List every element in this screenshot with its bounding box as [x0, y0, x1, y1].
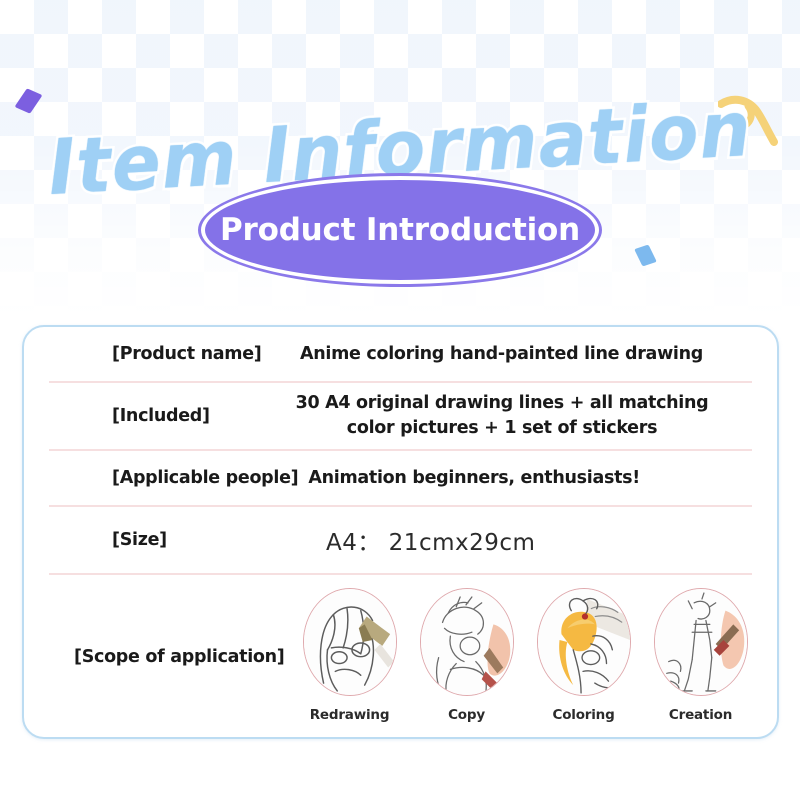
- product-introduction-page: Item Information Product Introduction [P…: [0, 0, 800, 800]
- info-card: [Product name] Anime coloring hand-paint…: [22, 325, 779, 739]
- badge-label: Product Introduction: [220, 212, 580, 248]
- thumb-label-copy: Copy: [448, 707, 485, 723]
- row-value-included: 30 A4 original drawing lines + all match…: [290, 391, 752, 441]
- scope-label: [Scope of application]: [74, 647, 285, 667]
- row-label-size: [Size]: [112, 530, 290, 550]
- thumb-label-creation: Creation: [669, 707, 732, 723]
- anime-girl-coloring-thumb-icon[interactable]: [537, 588, 631, 696]
- anime-figure-copy-thumb-icon[interactable]: [420, 588, 514, 696]
- list-item[interactable]: Copy: [420, 588, 514, 723]
- table-row: [Product name] Anime coloring hand-paint…: [49, 327, 752, 383]
- info-table: [Product name] Anime coloring hand-paint…: [24, 327, 777, 735]
- row-value-size: A4： 21cmx29cm: [326, 523, 535, 557]
- row-label-included: [Included]: [112, 406, 290, 426]
- list-item[interactable]: Coloring: [537, 588, 631, 723]
- thumb-label-coloring: Coloring: [552, 707, 614, 723]
- table-row: [Applicable people] Animation beginners,…: [49, 451, 752, 507]
- row-label-product-name: [Product name]: [112, 344, 290, 364]
- anime-face-redraw-thumb-icon[interactable]: [303, 588, 397, 696]
- row-value-applicable-people: Animation beginners, enthusiasts!: [308, 468, 640, 488]
- list-item[interactable]: Redrawing: [303, 588, 397, 723]
- scope-of-application-section: [Scope of application]: [49, 575, 752, 735]
- anime-figure-creation-thumb-icon[interactable]: [654, 588, 748, 696]
- product-introduction-badge: Product Introduction: [201, 176, 599, 284]
- row-label-applicable-people: [Applicable people]: [112, 468, 298, 488]
- thumb-label-redrawing: Redrawing: [310, 707, 390, 723]
- table-row: [Included] 30 A4 original drawing lines …: [49, 383, 752, 451]
- scope-thumbnail-list: Redrawing: [303, 588, 748, 723]
- table-row: [Size] A4： 21cmx29cm: [49, 507, 752, 575]
- row-value-product-name: Anime coloring hand-painted line drawing: [300, 344, 703, 364]
- yellow-ribbon-confetti-icon: [718, 94, 780, 150]
- list-item[interactable]: Creation: [654, 588, 748, 723]
